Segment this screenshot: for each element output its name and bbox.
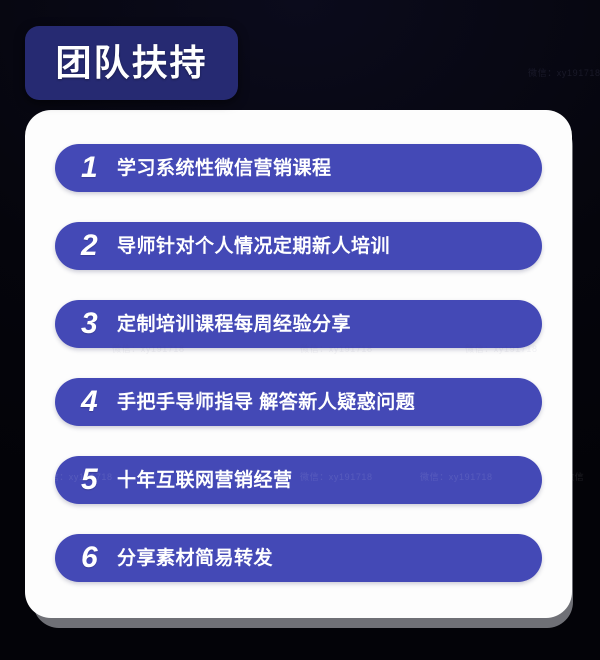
watermark-text: 微信：xy191718: [528, 66, 600, 79]
list-item[interactable]: 3 定制培训课程每周经验分享: [55, 300, 542, 348]
list-item-number: 2: [81, 231, 111, 261]
list-item[interactable]: 6 分享素材简易转发: [55, 534, 542, 582]
benefits-list: 1 学习系统性微信营销课程 2 导师针对个人情况定期新人培训 3 定制培训课程每…: [55, 144, 542, 582]
list-item-label: 十年互联网营销经营: [117, 471, 293, 490]
list-item-number: 4: [81, 387, 111, 417]
list-item[interactable]: 2 导师针对个人情况定期新人培训: [55, 222, 542, 270]
list-item-label: 定制培训课程每周经验分享: [117, 315, 351, 334]
list-item-label: 学习系统性微信营销课程: [117, 159, 332, 178]
list-item-number: 1: [81, 153, 111, 183]
content-card: 1 学习系统性微信营销课程 2 导师针对个人情况定期新人培训 3 定制培训课程每…: [25, 110, 572, 618]
list-item[interactable]: 4 手把手导师指导 解答新人疑惑问题: [55, 378, 542, 426]
list-item-number: 3: [81, 309, 111, 339]
title-banner: 团队扶持: [25, 26, 238, 100]
list-item[interactable]: 5 十年互联网营销经营: [55, 456, 542, 504]
page-title: 团队扶持: [55, 45, 207, 81]
list-item-number: 6: [81, 543, 111, 573]
list-item-label: 手把手导师指导 解答新人疑惑问题: [117, 393, 415, 412]
list-item-label: 分享素材简易转发: [117, 549, 273, 568]
list-item[interactable]: 1 学习系统性微信营销课程: [55, 144, 542, 192]
list-item-number: 5: [81, 465, 111, 495]
poster-root: 团队扶持 1 学习系统性微信营销课程 2 导师针对个人情况定期新人培训 3 定制…: [0, 0, 600, 660]
list-item-label: 导师针对个人情况定期新人培训: [117, 237, 390, 256]
